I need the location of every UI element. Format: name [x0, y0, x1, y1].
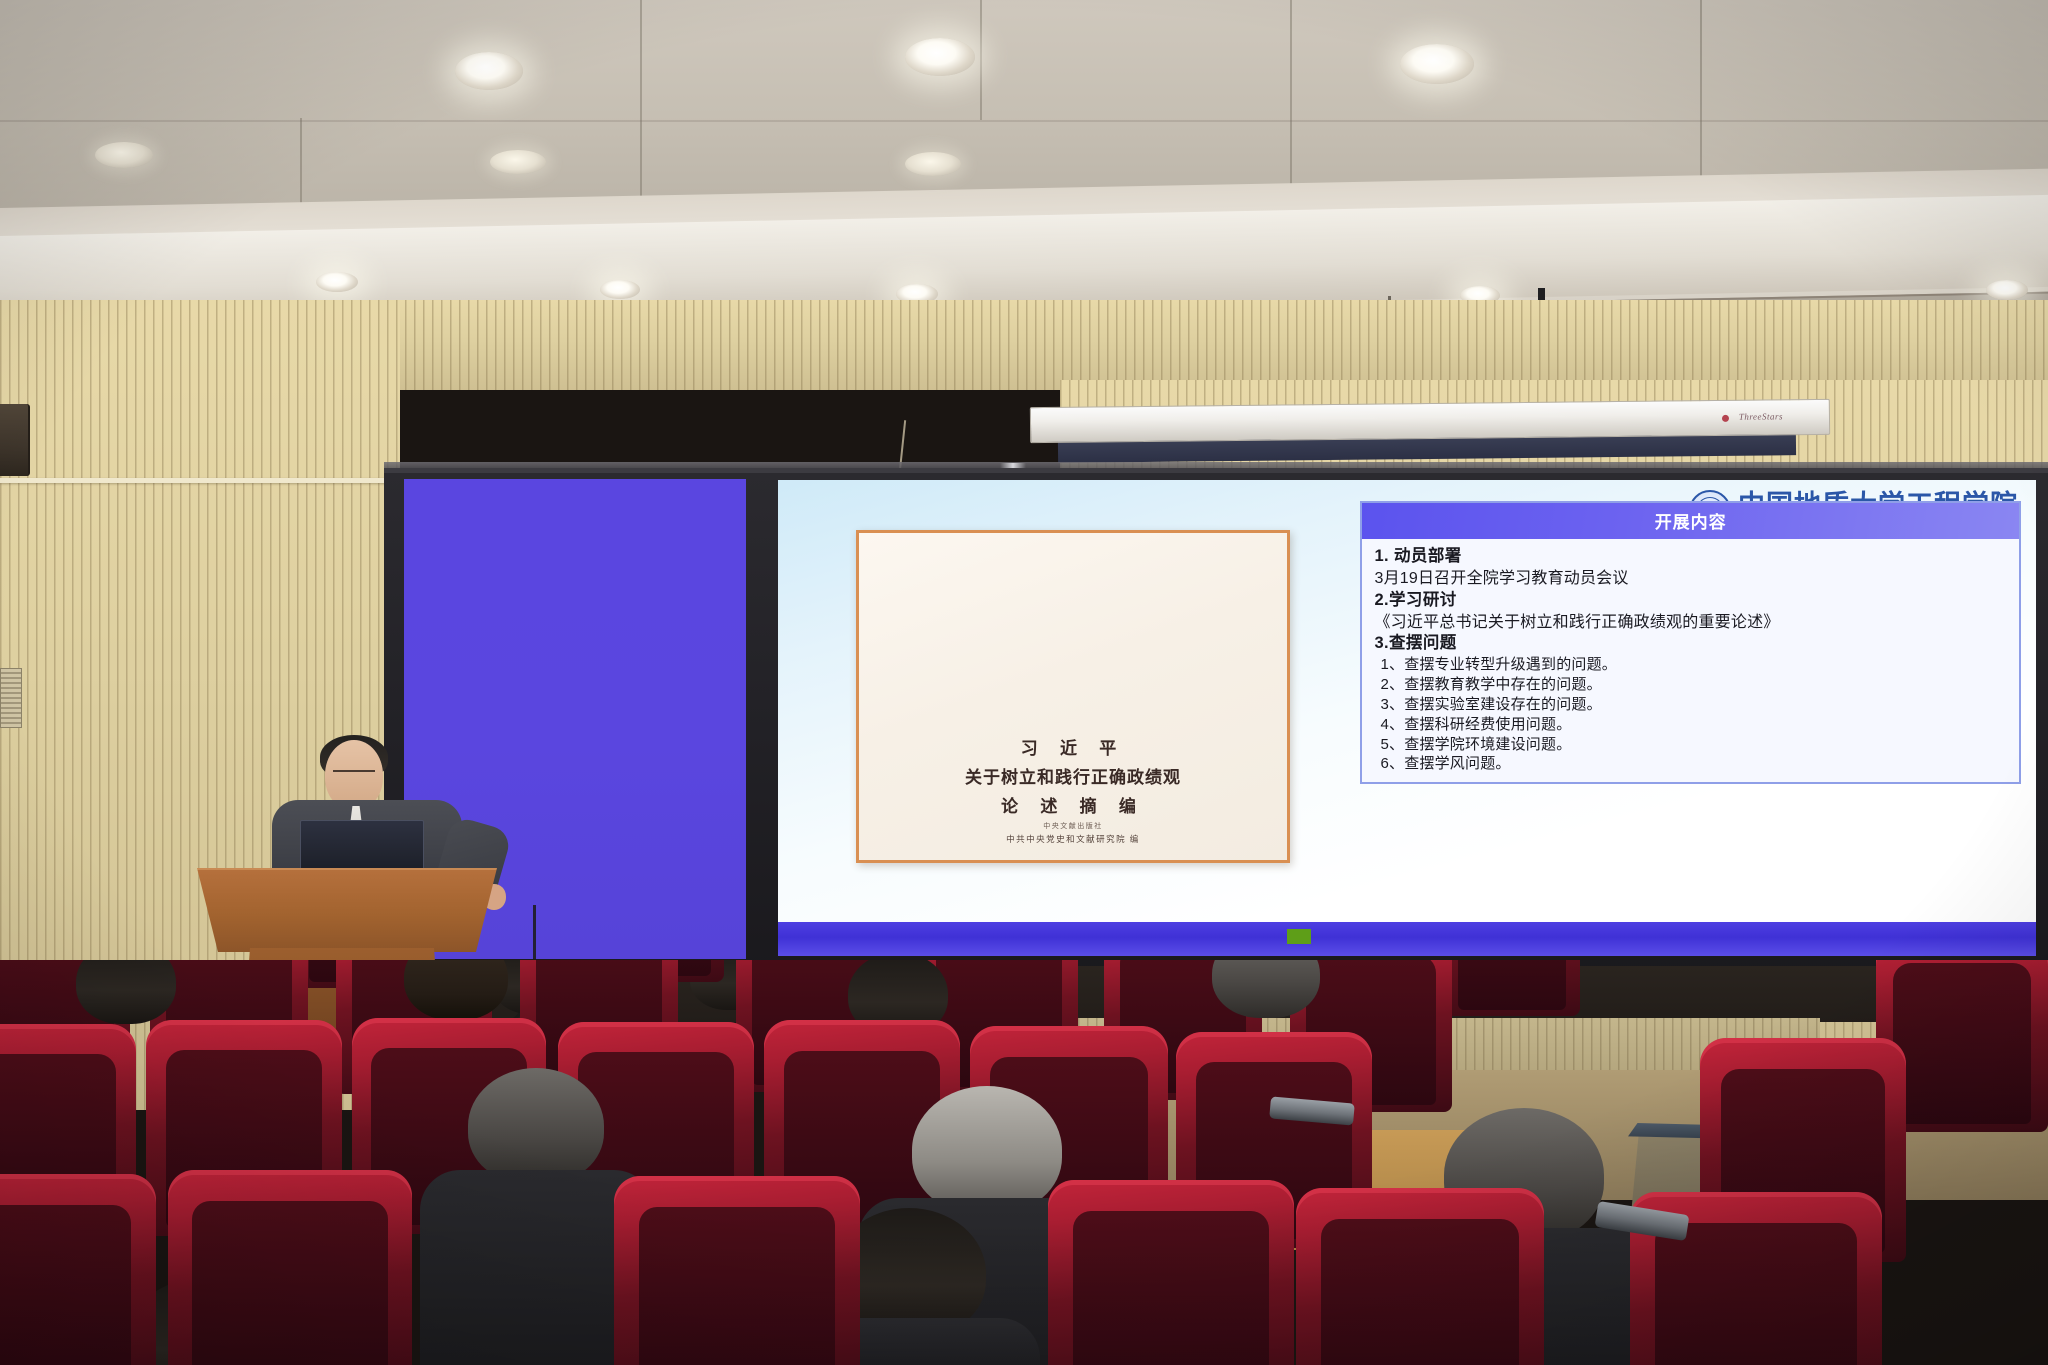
book-title-line1: 习 近 平 [1021, 734, 1126, 759]
content-panel-line: 5、查摆学院环境建设问题。 [1374, 735, 2008, 755]
wall-speaker-icon [0, 404, 30, 476]
content-panel-line: 4、查摆科研经费使用问题。 [1374, 715, 2008, 735]
auditorium-seat[interactable] [1296, 1188, 1544, 1365]
content-panel: 开展内容 1. 动员部署3月19日召开全院学习教育动员会议2.学习研讨《习近平总… [1360, 501, 2020, 784]
book-publisher: 中央文献出版社 [859, 821, 1287, 831]
wall-vent-grille [0, 668, 22, 728]
speaker-glasses [333, 770, 375, 779]
downlight-icon [600, 280, 640, 299]
audience-area [0, 960, 2048, 1365]
content-panel-line: 3、查摆实验室建设存在的问题。 [1374, 695, 2008, 715]
book-cover-image: 习 近 平 关于树立和践行正确政绩观 论 述 摘 编 中共中央党史和文献研究院 … [856, 530, 1290, 863]
downlight-icon [95, 142, 153, 168]
content-panel-line: 3月19日召开全院学习教育动员会议 [1374, 568, 2008, 589]
auditorium-seat[interactable] [168, 1170, 412, 1365]
audience-head [76, 960, 176, 1024]
content-panel-title: 开展内容 [1362, 503, 2018, 539]
podium-top [197, 868, 497, 952]
auditorium-seat[interactable] [0, 1174, 156, 1365]
content-panel-line: 2.学习研讨 [1374, 590, 2008, 612]
wall-trim [0, 478, 400, 483]
downlight-icon [1986, 280, 2028, 300]
content-panel-line: 《习近平总书记关于树立和践行正确政绩观的重要论述》 [1374, 612, 2008, 633]
podium-laptop[interactable] [300, 820, 424, 870]
book-title-line2: 关于树立和践行正确政绩观 [965, 763, 1181, 788]
downlight-icon [1400, 44, 1474, 84]
brand-dot-icon [1722, 415, 1729, 422]
book-editor: 中共中央党史和文献研究院 编 [1006, 833, 1140, 845]
audience-head [468, 1068, 604, 1184]
auditorium-seat[interactable] [1048, 1180, 1294, 1365]
slide-bottom-bar [778, 922, 2036, 956]
audience-head [404, 960, 508, 1020]
content-panel-line: 1、查摆专业转型升级遇到的问题。 [1374, 655, 2008, 675]
content-panel-line: 2、查摆教育教学中存在的问题。 [1374, 675, 2008, 695]
auditorium-seat[interactable] [1444, 960, 1580, 1016]
content-panel-line: 1. 动员部署 [1374, 546, 2008, 568]
audience-head [912, 1086, 1062, 1214]
projected-slide: 中国地质大学工程学院 FACULTY OF ENGINEERING, CHINA… [778, 480, 2036, 956]
lecture-hall-photo: ThreeStars 中国地质大学工程学院 FACULTY OF ENGINEE… [0, 0, 2048, 1365]
content-panel-body: 1. 动员部署3月19日召开全院学习教育动员会议2.学习研讨《习近平总书记关于树… [1362, 539, 2018, 782]
downlight-icon [316, 272, 358, 292]
downlight-icon [905, 38, 975, 76]
downlight-icon [905, 152, 961, 176]
content-panel-line: 3.查摆问题 [1374, 633, 2008, 655]
downlight-icon [490, 150, 546, 174]
content-panel-line: 6、查摆学风问题。 [1374, 754, 2008, 774]
green-marker-icon [1287, 929, 1311, 944]
auditorium-seat[interactable] [614, 1176, 860, 1365]
book-title-line3: 论 述 摘 编 [1001, 792, 1145, 817]
screen-brand-label: ThreeStars [1739, 411, 1783, 421]
downlight-icon [455, 52, 523, 90]
